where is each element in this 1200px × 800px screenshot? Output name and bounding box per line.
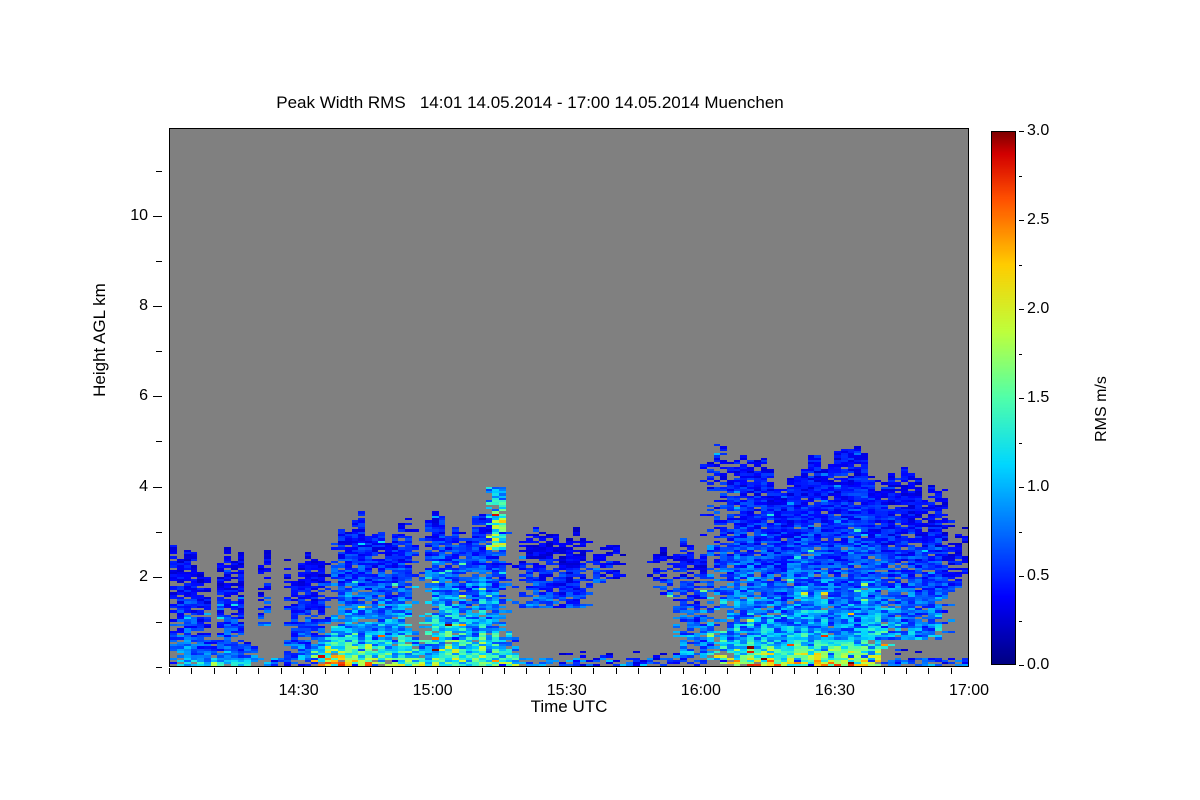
x-axis-tick-mark <box>571 668 572 674</box>
y-axis-tick-mark <box>156 351 162 352</box>
x-axis-tick-mark <box>482 668 483 674</box>
x-axis-tick-mark <box>705 668 706 674</box>
colorbar-tick-label: 1.0 <box>1027 478 1049 496</box>
y-axis-tick-mark <box>156 622 162 623</box>
x-axis-tick-mark <box>683 668 684 674</box>
y-axis-tick-label: 4 <box>139 478 148 496</box>
x-axis-tick-mark <box>951 668 952 674</box>
x-axis-tick-mark <box>861 668 862 674</box>
y-axis-tick-mark <box>156 261 162 262</box>
x-axis-tick-mark <box>750 668 751 674</box>
x-axis-tick-mark <box>191 668 192 674</box>
y-axis-tick-mark <box>156 532 162 533</box>
colorbar-tick-labels: 0.00.51.01.52.02.53.0 <box>1019 131 1079 665</box>
colorbar-tick-mark <box>1019 354 1022 355</box>
x-axis-tick-mark <box>169 668 170 674</box>
y-axis-tick-mark <box>153 487 162 488</box>
y-axis-tick-labels: 246810 <box>110 128 162 667</box>
x-axis-label: Time UTC <box>169 697 969 717</box>
x-axis-tick-mark <box>794 668 795 674</box>
colorbar-tick-mark <box>1019 621 1022 622</box>
x-axis-tick-mark <box>549 668 550 674</box>
colorbar-tick-label: 0.0 <box>1027 656 1049 674</box>
y-axis-tick-mark <box>156 171 162 172</box>
y-axis-tick-mark <box>156 441 162 442</box>
x-axis-tick-mark <box>415 668 416 674</box>
colorbar-tick-mark <box>1019 131 1024 132</box>
y-axis-tick-label: 6 <box>139 387 148 405</box>
x-axis-tick-mark <box>392 668 393 674</box>
colorbar-label: RMS m/s <box>1093 319 1111 499</box>
y-axis-tick-mark <box>153 306 162 307</box>
colorbar-tick-mark <box>1019 532 1022 533</box>
chart-title: Peak Width RMS 14:01 14.05.2014 - 17:00 … <box>0 93 1060 113</box>
colorbar-gradient <box>992 132 1015 664</box>
x-axis-tick-mark <box>504 668 505 674</box>
colorbar-tick-label: 1.5 <box>1027 389 1049 407</box>
x-axis-tick-mark <box>928 668 929 674</box>
figure-canvas-area: Peak Width RMS 14:01 14.05.2014 - 17:00 … <box>0 0 1200 800</box>
colorbar-tick-mark <box>1019 576 1024 577</box>
x-axis-tick-mark <box>772 668 773 674</box>
x-axis-tick-mark <box>727 668 728 674</box>
heatmap-data-layer <box>170 129 968 666</box>
x-axis-tick-mark <box>616 668 617 674</box>
colorbar-tick-mark <box>1019 398 1024 399</box>
colorbar-tick-mark <box>1019 265 1022 266</box>
x-axis-tick-mark <box>638 668 639 674</box>
x-axis-tick-mark <box>906 668 907 674</box>
x-axis-tick-mark <box>817 668 818 674</box>
x-axis-tick-mark <box>258 668 259 674</box>
x-axis-tick-mark <box>839 668 840 674</box>
colorbar-tick-mark <box>1019 443 1022 444</box>
x-axis-tick-mark <box>526 668 527 674</box>
colorbar-tick-label: 2.0 <box>1027 300 1049 318</box>
x-axis-tick-mark <box>593 668 594 674</box>
y-axis-tick-mark <box>153 216 162 217</box>
x-axis-tick-mark <box>236 668 237 674</box>
colorbar-tick-mark <box>1019 176 1022 177</box>
x-axis-tick-mark <box>281 668 282 674</box>
x-axis-tick-mark <box>348 668 349 674</box>
x-axis-tick-mark <box>884 668 885 674</box>
x-axis-tick-mark <box>370 668 371 674</box>
y-axis-tick-label: 10 <box>130 207 148 225</box>
x-axis-tick-mark <box>303 668 304 674</box>
colorbar-tick-mark <box>1019 487 1024 488</box>
x-axis-tick-mark <box>459 668 460 674</box>
colorbar-tick-label: 2.5 <box>1027 211 1049 229</box>
y-axis-tick-label: 2 <box>139 568 148 586</box>
y-axis-tick-mark <box>153 577 162 578</box>
x-axis-tick-mark <box>660 668 661 674</box>
y-axis-label: Height AGL km <box>90 230 110 450</box>
colorbar-tick-label: 3.0 <box>1027 122 1049 140</box>
colorbar-tick-mark <box>1019 309 1024 310</box>
y-axis-tick-label: 8 <box>139 297 148 315</box>
x-axis-tick-mark <box>325 668 326 674</box>
colorbar-tick-mark <box>1019 220 1024 221</box>
y-axis-tick-mark <box>153 396 162 397</box>
colorbar-tick-mark <box>1019 665 1024 666</box>
colorbar-tick-label: 0.5 <box>1027 567 1049 585</box>
x-axis-tick-mark <box>437 668 438 674</box>
x-axis-tick-mark <box>214 668 215 674</box>
y-axis-tick-mark <box>156 667 162 668</box>
